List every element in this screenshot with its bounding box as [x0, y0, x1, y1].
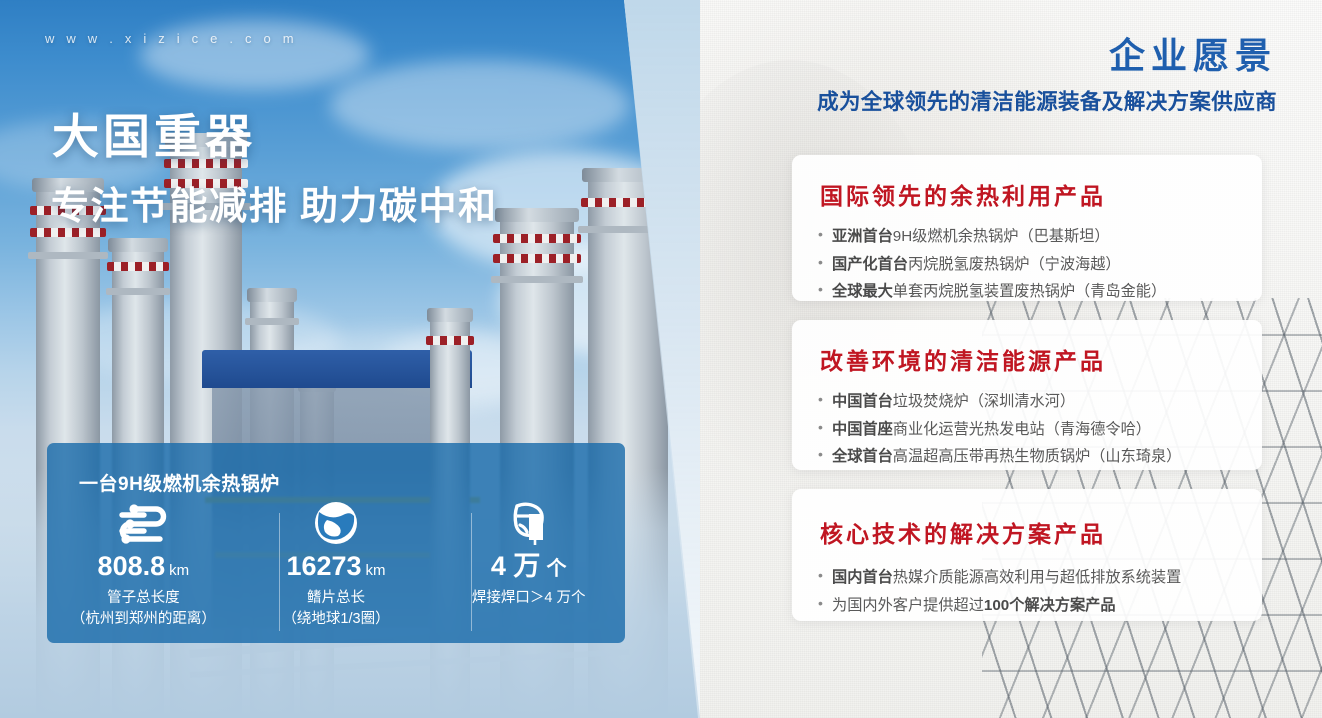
- list-item: 中国首台垃圾焚烧炉（深圳清水河）: [818, 388, 1262, 416]
- stat-item-fin-length: 16273km 鳍片总长 （绕地球1/3圈）: [240, 503, 433, 643]
- card-title: 改善环境的清洁能源产品: [820, 342, 1262, 376]
- cloud-decor: [330, 60, 630, 150]
- list-item: 国产化首台丙烷脱氢废热锅炉（宁波海越）: [818, 251, 1262, 279]
- list-item: 全球首台高温超高压带再热生物质锅炉（山东琦泉）: [818, 443, 1262, 471]
- welding-helmet-icon: [507, 499, 551, 547]
- right-content-panel: 企业愿景 成为全球领先的清洁能源装备及解决方案供应商 国际领先的余热利用产品 亚…: [700, 0, 1322, 718]
- hero-subtitle: 专注节能减排 助力碳中和: [51, 175, 498, 230]
- list-item: 中国首座商业化运营光热发电站（青海德令哈）: [818, 416, 1262, 444]
- list-item: 全球最大单套丙烷脱氢装置废热锅炉（青岛金能）: [818, 278, 1262, 306]
- stat-label: 焊接焊口＞4 万个: [472, 588, 586, 609]
- stat-item-weld-joints: 4 万个 焊接焊口＞4 万个: [432, 503, 625, 643]
- hero-title: 大国重器: [52, 98, 256, 167]
- card-bullet-list: 国内首台热媒介质能源高效利用与超低排放系统装置 为国内外客户提供超过100个解决…: [818, 564, 1262, 619]
- vision-subtitle: 成为全球领先的清洁能源装备及解决方案供应商: [817, 85, 1277, 116]
- stat-value: 808.8km: [98, 553, 190, 580]
- card-core-technology-solutions[interactable]: 核心技术的解决方案产品 国内首台热媒介质能源高效利用与超低排放系统装置 为国内外…: [792, 489, 1262, 621]
- card-waste-heat-products[interactable]: 国际领先的余热利用产品 亚洲首台9H级燃机余热锅炉（巴基斯坦） 国产化首台丙烷脱…: [792, 155, 1262, 301]
- stat-item-pipe-length: 808.8km 管子总长度 （杭州到郑州的距离）: [47, 503, 240, 643]
- list-item: 亚洲首台9H级燃机余热锅炉（巴基斯坦）: [818, 223, 1262, 251]
- card-title: 核心技术的解决方案产品: [820, 515, 1262, 549]
- website-url: w w w . x i z i c e . c o m: [45, 31, 298, 46]
- card-bullet-list: 亚洲首台9H级燃机余热锅炉（巴基斯坦） 国产化首台丙烷脱氢废热锅炉（宁波海越） …: [818, 223, 1262, 306]
- stats-row: 808.8km 管子总长度 （杭州到郑州的距离）: [47, 503, 625, 643]
- stats-panel-title: 一台9H级燃机余热锅炉: [79, 469, 280, 496]
- vision-title: 企业愿景: [1109, 27, 1277, 79]
- globe-icon: [313, 499, 359, 547]
- stat-value: 4 万个: [491, 553, 567, 580]
- card-clean-energy-products[interactable]: 改善环境的清洁能源产品 中国首台垃圾焚烧炉（深圳清水河） 中国首座商业化运营光热…: [792, 320, 1262, 470]
- stat-label: 鳍片总长 （绕地球1/3圈）: [282, 588, 389, 630]
- list-item: 为国内外客户提供超过100个解决方案产品: [818, 592, 1262, 620]
- slide-root: w w w . x i z i c e . c o m 大国重器 专注节能减排 …: [0, 0, 1322, 718]
- list-item: 国内首台热媒介质能源高效利用与超低排放系统装置: [818, 564, 1262, 592]
- stat-value: 16273km: [286, 553, 385, 580]
- stats-panel: 一台9H级燃机余热锅炉: [47, 443, 625, 643]
- card-bullet-list: 中国首台垃圾焚烧炉（深圳清水河） 中国首座商业化运营光热发电站（青海德令哈） 全…: [818, 388, 1262, 471]
- left-photo-panel: w w w . x i z i c e . c o m 大国重器 专注节能减排 …: [0, 0, 706, 718]
- card-title: 国际领先的余热利用产品: [820, 177, 1262, 211]
- pipe-coil-icon: [114, 499, 172, 547]
- stat-label: 管子总长度 （杭州到郑州的距离）: [71, 588, 216, 630]
